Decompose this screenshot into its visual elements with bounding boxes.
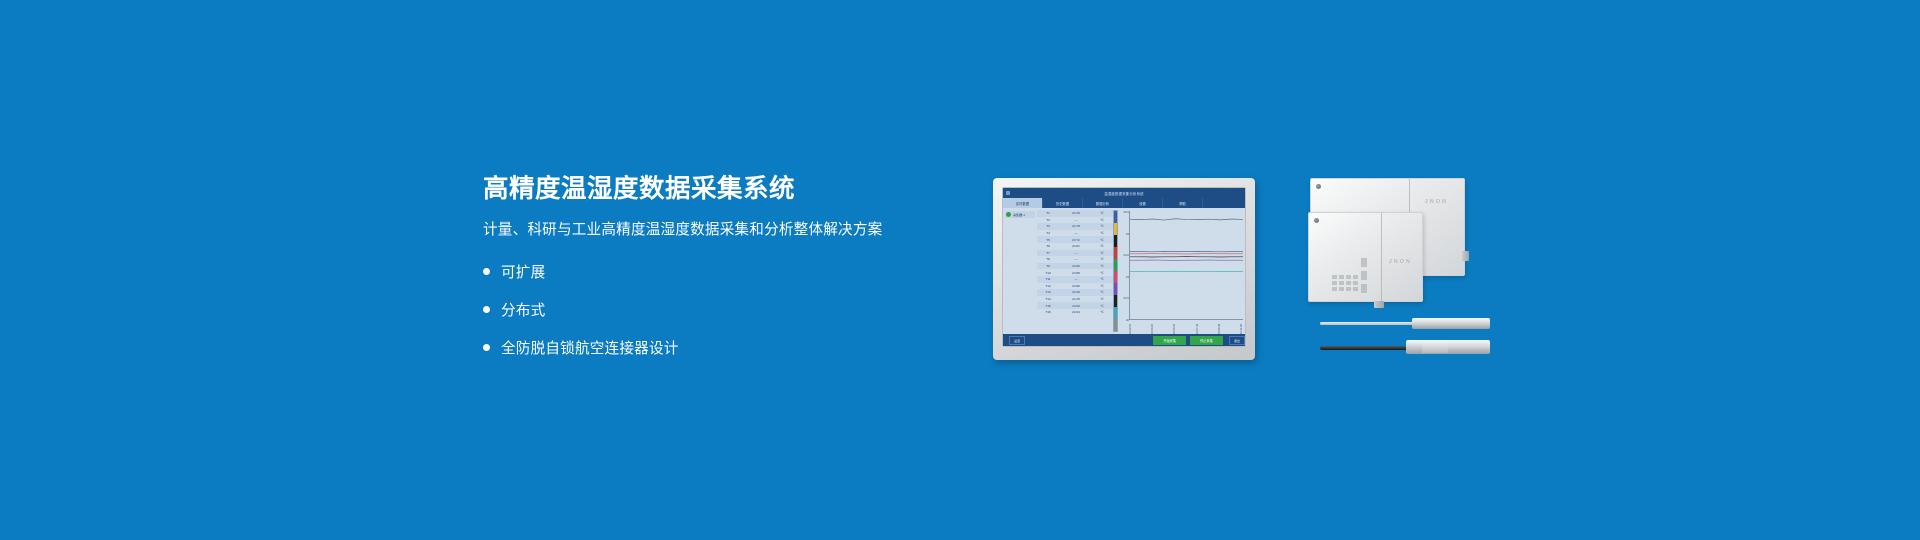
- cell-value: ---: [1059, 231, 1093, 235]
- cell-channel: T10: [1037, 271, 1059, 275]
- x-tick: 10:05:52: [1173, 322, 1176, 334]
- table-row: T5 23.72 ℃: [1037, 236, 1113, 243]
- app-tab-bar: 实时数据 历史数据 数据分析 设置 帮助: [1003, 198, 1245, 208]
- cell-value: 24.90: [1059, 284, 1093, 288]
- cell-channel: T9: [1037, 264, 1059, 268]
- chart-x-axis: 10:02:10 10:04:00 10:05:52 10:07:44 10:0…: [1129, 322, 1243, 334]
- product-image-data-logger-modules: JNON JNON: [1308, 172, 1488, 302]
- cell-channel: T3: [1037, 224, 1059, 228]
- connector-ports: [1361, 258, 1367, 293]
- data-logger-module-front: JNON: [1308, 212, 1423, 302]
- cell-channel: T1: [1037, 211, 1059, 215]
- cell-channel: T12: [1037, 284, 1059, 288]
- probe-ferrule-secondary: [1422, 341, 1448, 353]
- monitor-bezel: 温湿度数据采集分析系统 实时数据 历史数据 数据分析 设置 帮助 采集器-1: [1002, 187, 1246, 347]
- table-row: T2 --- ℃: [1037, 217, 1113, 224]
- cell-unit: ℃: [1093, 231, 1111, 235]
- cell-unit: ℃: [1093, 310, 1111, 314]
- exit-button[interactable]: 退出: [1229, 336, 1245, 345]
- brand-logo: JNON: [1425, 199, 1448, 205]
- stop-acquisition-button[interactable]: 停止采集: [1190, 336, 1223, 345]
- cell-channel: T6: [1037, 244, 1059, 248]
- start-acquisition-button[interactable]: 开始采集: [1153, 336, 1186, 345]
- port-grid: [1332, 275, 1358, 291]
- monitor-screen: 温湿度数据采集分析系统 实时数据 历史数据 数据分析 设置 帮助 采集器-1: [1003, 188, 1245, 346]
- tab-help[interactable]: 帮助: [1163, 198, 1203, 208]
- table-row: T4 --- ℃: [1037, 230, 1113, 237]
- app-titlebar: 温湿度数据采集分析系统: [1003, 188, 1245, 198]
- product-image-sensor-probes: [1320, 310, 1490, 365]
- series-color-legend-bar: [1113, 210, 1118, 332]
- product-banner: 高精度温湿度数据采集系统 计量、科研与工业高精度温湿度数据采集和分析整体解决方案…: [0, 0, 1920, 540]
- table-row: T16 24.94 ℃: [1037, 309, 1113, 316]
- realtime-trend-chart: 25.0 24 24.0 23 23.0 22 10:02:10 10: [1120, 208, 1245, 334]
- table-row: T3 24.78 ℃: [1037, 223, 1113, 230]
- cell-value: ---: [1059, 218, 1093, 222]
- table-row: T1 23.15 ℃: [1037, 210, 1113, 217]
- x-tick: 10:09:36: [1218, 322, 1221, 334]
- cell-value: ---: [1059, 277, 1093, 281]
- page-title: 高精度温湿度数据采集系统: [483, 175, 1003, 203]
- cell-channel: T13: [1037, 290, 1059, 294]
- status-indicator-icon: [1006, 212, 1011, 217]
- cell-unit: ℃: [1093, 251, 1111, 255]
- cell-unit: ℃: [1093, 290, 1111, 294]
- cell-value: 24.28: [1059, 290, 1093, 294]
- panel-seam: [1381, 213, 1382, 301]
- probe-ferrule: [1406, 342, 1422, 352]
- table-row: T11 --- ℃: [1037, 276, 1113, 283]
- cell-value: ---: [1059, 257, 1093, 261]
- cell-unit: ℃: [1093, 277, 1111, 281]
- chart-y-axis: 25.0 24 24.0 23 23.0 22: [1120, 210, 1129, 322]
- chart-lines: [1130, 211, 1243, 319]
- page-subtitle: 计量、科研与工业高精度温湿度数据采集和分析整体解决方案: [483, 222, 1003, 240]
- cell-value: 24.61: [1059, 244, 1093, 248]
- cell-unit: ℃: [1093, 224, 1111, 228]
- tab-history-data[interactable]: 历史数据: [1043, 198, 1083, 208]
- x-tick: 10:04:00: [1151, 322, 1154, 334]
- cell-unit: ℃: [1093, 284, 1111, 288]
- product-image-panel-pc: 温湿度数据采集分析系统 实时数据 历史数据 数据分析 设置 帮助 采集器-1: [993, 178, 1255, 360]
- cell-unit: ℃: [1093, 211, 1111, 215]
- x-tick: 10:07:44: [1196, 322, 1199, 334]
- aviation-connector: [1374, 301, 1384, 308]
- app-window-title: 温湿度数据采集分析系统: [1003, 191, 1245, 196]
- app-main-area: 采集器-1 T1 23.15 ℃ T2 --- ℃: [1003, 208, 1245, 334]
- x-tick: 10:02:10: [1129, 322, 1132, 334]
- aviation-connector: [1462, 251, 1469, 261]
- cell-unit: ℃: [1093, 244, 1111, 248]
- bullet-dot-icon: [483, 306, 490, 313]
- table-row: T14 24.15 ℃: [1037, 296, 1113, 303]
- table-row: T12 24.90 ℃: [1037, 283, 1113, 290]
- cell-channel: T2: [1037, 218, 1059, 222]
- list-item: 可扩展: [483, 261, 1003, 282]
- cell-channel: T14: [1037, 297, 1059, 301]
- cell-value: 24.90: [1059, 264, 1093, 268]
- feature-label: 分布式: [501, 299, 545, 320]
- bullet-dot-icon: [483, 344, 490, 351]
- device-tree-node[interactable]: 采集器-1: [1005, 211, 1035, 218]
- cell-value: 24.90: [1059, 304, 1093, 308]
- table-row: T10 24.88 ℃: [1037, 269, 1113, 276]
- x-tick: 10:11:28: [1240, 322, 1243, 334]
- cell-value: 24.88: [1059, 271, 1093, 275]
- cell-value: 23.72: [1059, 238, 1093, 242]
- cell-unit: ℃: [1093, 297, 1111, 301]
- banner-text-block: 高精度温湿度数据采集系统 计量、科研与工业高精度温湿度数据采集和分析整体解决方案…: [483, 175, 1003, 375]
- settings-button[interactable]: 设置: [1009, 336, 1025, 345]
- chart-plot-area: [1129, 211, 1243, 320]
- cell-unit: ℃: [1093, 238, 1111, 242]
- cell-value: 23.15: [1059, 211, 1093, 215]
- table-row: T7 --- ℃: [1037, 250, 1113, 257]
- table-row: T13 24.28 ℃: [1037, 289, 1113, 296]
- feature-list: 可扩展 分布式 全防脱自锁航空连接器设计: [483, 261, 1003, 358]
- tab-settings[interactable]: 设置: [1123, 198, 1163, 208]
- tab-data-analysis[interactable]: 数据分析: [1083, 198, 1123, 208]
- cell-channel: T11: [1037, 277, 1059, 281]
- cell-channel: T16: [1037, 310, 1059, 314]
- cell-unit: ℃: [1093, 264, 1111, 268]
- cell-channel: T4: [1037, 231, 1059, 235]
- cell-unit: ℃: [1093, 271, 1111, 275]
- brand-logo: JNON: [1389, 259, 1412, 265]
- table-row: T15 24.90 ℃: [1037, 302, 1113, 309]
- channel-readings-table: T1 23.15 ℃ T2 --- ℃ T3 24.78 ℃: [1037, 208, 1113, 334]
- cell-value: ---: [1059, 251, 1093, 255]
- app-footer-bar: 设置 开始采集 停止采集 退出: [1003, 334, 1245, 346]
- cell-unit: ℃: [1093, 218, 1111, 222]
- probe-tip: [1412, 318, 1490, 329]
- cell-channel: T8: [1037, 257, 1059, 261]
- bullet-dot-icon: [483, 268, 490, 275]
- cell-channel: T7: [1037, 251, 1059, 255]
- probe-cable: [1320, 322, 1416, 325]
- probe-tip: [1406, 340, 1490, 354]
- cell-value: 24.94: [1059, 310, 1093, 314]
- list-item: 分布式: [483, 299, 1003, 320]
- cell-unit: ℃: [1093, 304, 1111, 308]
- table-row: T6 24.61 ℃: [1037, 243, 1113, 250]
- screw-icon: [1314, 218, 1319, 223]
- table-row: T8 --- ℃: [1037, 256, 1113, 263]
- cell-unit: ℃: [1093, 257, 1111, 261]
- probe-cable: [1320, 346, 1416, 350]
- table-row: T9 24.90 ℃: [1037, 263, 1113, 270]
- screw-icon: [1316, 184, 1321, 189]
- list-item: 全防脱自锁航空连接器设计: [483, 337, 1003, 358]
- cell-channel: T15: [1037, 304, 1059, 308]
- feature-label: 全防脱自锁航空连接器设计: [501, 337, 679, 358]
- device-node-label: 采集器-1: [1013, 212, 1025, 217]
- tab-realtime-data[interactable]: 实时数据: [1003, 198, 1043, 208]
- cell-value: 24.15: [1059, 297, 1093, 301]
- device-tree-panel: 采集器-1: [1003, 208, 1037, 334]
- cell-channel: T5: [1037, 238, 1059, 242]
- feature-label: 可扩展: [501, 261, 545, 282]
- cell-value: 24.78: [1059, 224, 1093, 228]
